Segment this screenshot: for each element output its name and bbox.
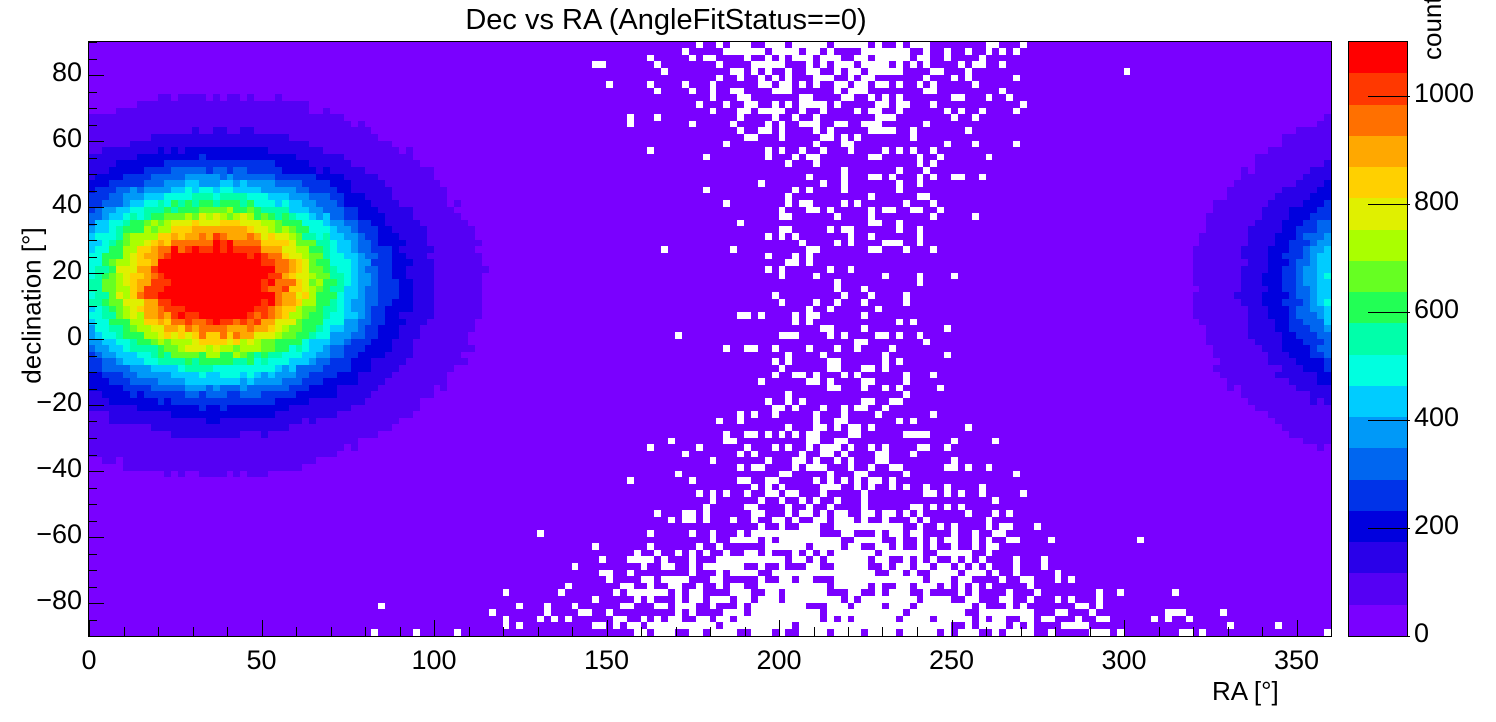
x-axis-major-tick (89, 620, 90, 636)
x-axis-minor-tick (1228, 627, 1229, 636)
color-scale-bar (1348, 41, 1408, 637)
color-scale-band (1349, 73, 1407, 105)
x-axis-minor-tick (1055, 627, 1056, 636)
y-axis-minor-tick (88, 488, 97, 489)
y-axis-major-tick (88, 75, 104, 76)
color-scale-band (1349, 261, 1407, 292)
histogram-heatmap (89, 42, 1331, 636)
x-axis-minor-tick (710, 627, 711, 636)
x-axis-tick-label: 0 (81, 645, 96, 676)
y-axis-major-tick (88, 405, 104, 406)
y-axis-minor-tick (88, 42, 97, 43)
y-axis-minor-tick (88, 92, 97, 93)
y-axis-minor-tick (88, 59, 97, 60)
x-axis-minor-tick (503, 627, 504, 636)
x-axis-major-tick (434, 620, 435, 636)
color-scale-band (1349, 573, 1407, 605)
y-axis-minor-tick (88, 504, 97, 505)
color-scale-tick (1368, 528, 1410, 529)
color-scale-band (1349, 105, 1407, 136)
x-axis-minor-tick (400, 627, 401, 636)
y-axis-major-tick (88, 207, 104, 208)
y-axis-minor-tick (88, 323, 97, 324)
y-axis-tick-label: 20 (52, 255, 82, 286)
color-scale-band (1349, 198, 1407, 230)
x-axis-major-tick (1124, 620, 1125, 636)
color-scale-band (1349, 480, 1407, 511)
y-axis-minor-tick (88, 455, 97, 456)
color-scale-tick (1368, 96, 1410, 97)
color-scale-tick-label: 600 (1414, 294, 1459, 325)
x-axis-minor-tick (676, 627, 677, 636)
y-axis-major-tick (88, 537, 104, 538)
y-axis-tick-label: 80 (52, 57, 82, 88)
y-axis-major-tick (88, 339, 104, 340)
color-scale-band (1349, 136, 1407, 167)
y-axis-minor-tick (88, 224, 97, 225)
y-axis-tick-label: 40 (52, 189, 82, 220)
x-axis-minor-tick (572, 627, 573, 636)
x-axis-tick-label: 100 (411, 645, 456, 676)
x-axis-minor-tick (848, 627, 849, 636)
y-axis-minor-tick (88, 389, 97, 390)
y-axis-minor-tick (88, 191, 97, 192)
x-axis-minor-tick (1331, 627, 1332, 636)
color-scale-tick-label: 800 (1414, 186, 1459, 217)
color-scale-tick (1368, 312, 1410, 313)
y-axis-tick-label: 0 (67, 321, 82, 352)
y-axis-minor-tick (88, 570, 97, 571)
x-axis-minor-tick (745, 627, 746, 636)
x-axis-title: RA [°] (1212, 676, 1279, 707)
x-axis-major-tick (952, 620, 953, 636)
x-axis-minor-tick (538, 627, 539, 636)
x-axis-minor-tick (365, 627, 366, 636)
color-scale-band (1349, 448, 1407, 480)
y-axis-major-tick (88, 471, 104, 472)
x-axis-minor-tick (227, 627, 228, 636)
plot-frame (88, 41, 1332, 637)
x-axis-major-tick (779, 620, 780, 636)
x-axis-minor-tick (1021, 627, 1022, 636)
x-axis-tick-label: 200 (756, 645, 801, 676)
color-scale-band (1349, 292, 1407, 323)
color-scale-band (1349, 511, 1407, 542)
y-axis-minor-tick (88, 158, 97, 159)
y-axis-minor-tick (88, 306, 97, 307)
x-axis-minor-tick (814, 627, 815, 636)
x-axis-minor-tick (296, 627, 297, 636)
x-axis-minor-tick (331, 627, 332, 636)
y-axis-minor-tick (88, 290, 97, 291)
color-scale-band (1349, 355, 1407, 386)
x-axis-minor-tick (469, 627, 470, 636)
color-scale-tick (1368, 204, 1410, 205)
y-axis-title: declination [°] (17, 176, 48, 436)
x-axis-tick-label: 350 (1274, 645, 1319, 676)
page-title: Dec vs RA (AngleFitStatus==0) (0, 4, 1332, 37)
color-scale-band (1349, 230, 1407, 261)
y-axis-minor-tick (88, 372, 97, 373)
y-axis-tick-label: −60 (36, 519, 82, 550)
color-scale-tick-label: 400 (1414, 402, 1459, 433)
y-axis-tick-label: 60 (52, 123, 82, 154)
color-scale-band (1349, 167, 1407, 198)
color-scale-band (1349, 323, 1407, 355)
x-axis-minor-tick (1159, 627, 1160, 636)
x-axis-tick-label: 300 (1101, 645, 1146, 676)
x-axis-minor-tick (882, 627, 883, 636)
y-axis-tick-label: −80 (36, 585, 82, 616)
x-axis-tick-label: 250 (929, 645, 974, 676)
y-axis-minor-tick (88, 257, 97, 258)
y-axis-minor-tick (88, 174, 97, 175)
x-axis-minor-tick (193, 627, 194, 636)
y-axis-major-tick (88, 603, 104, 604)
y-axis-minor-tick (88, 587, 97, 588)
y-axis-minor-tick (88, 125, 97, 126)
x-axis-minor-tick (158, 627, 159, 636)
y-axis-minor-tick (88, 438, 97, 439)
y-axis-minor-tick (88, 421, 97, 422)
y-axis-minor-tick (88, 521, 97, 522)
x-axis-tick-label: 150 (584, 645, 629, 676)
color-scale-title: count (1417, 0, 1448, 60)
color-scale-tick-label: 0 (1414, 618, 1429, 649)
y-axis-minor-tick (88, 240, 97, 241)
x-axis-minor-tick (641, 627, 642, 636)
color-scale-band (1349, 542, 1407, 573)
x-axis-minor-tick (1193, 627, 1194, 636)
root-canvas-pad: Dec vs RA (AngleFitStatus==0) −80−60−40−… (0, 0, 1496, 722)
x-axis-major-tick (262, 620, 263, 636)
color-scale-band (1349, 605, 1407, 636)
color-scale-tick (1368, 420, 1410, 421)
y-axis-minor-tick (88, 108, 97, 109)
x-axis-tick-label: 50 (246, 645, 276, 676)
x-axis-minor-tick (917, 627, 918, 636)
color-scale-tick-label: 200 (1414, 510, 1459, 541)
color-scale-band (1349, 417, 1407, 448)
color-scale-tick-label: 1000 (1414, 78, 1474, 109)
x-axis-minor-tick (986, 627, 987, 636)
x-axis-minor-tick (124, 627, 125, 636)
y-axis-minor-tick (88, 554, 97, 555)
x-axis-major-tick (1297, 620, 1298, 636)
color-scale-band (1349, 42, 1407, 73)
color-scale-tick (1368, 636, 1410, 637)
color-scale-band (1349, 386, 1407, 417)
y-axis-minor-tick (88, 356, 97, 357)
y-axis-major-tick (88, 273, 104, 274)
x-axis-major-tick (607, 620, 608, 636)
x-axis-minor-tick (1090, 627, 1091, 636)
y-axis-minor-tick (88, 636, 97, 637)
y-axis-tick-label: −40 (36, 453, 82, 484)
x-axis-minor-tick (1262, 627, 1263, 636)
y-axis-major-tick (88, 141, 104, 142)
